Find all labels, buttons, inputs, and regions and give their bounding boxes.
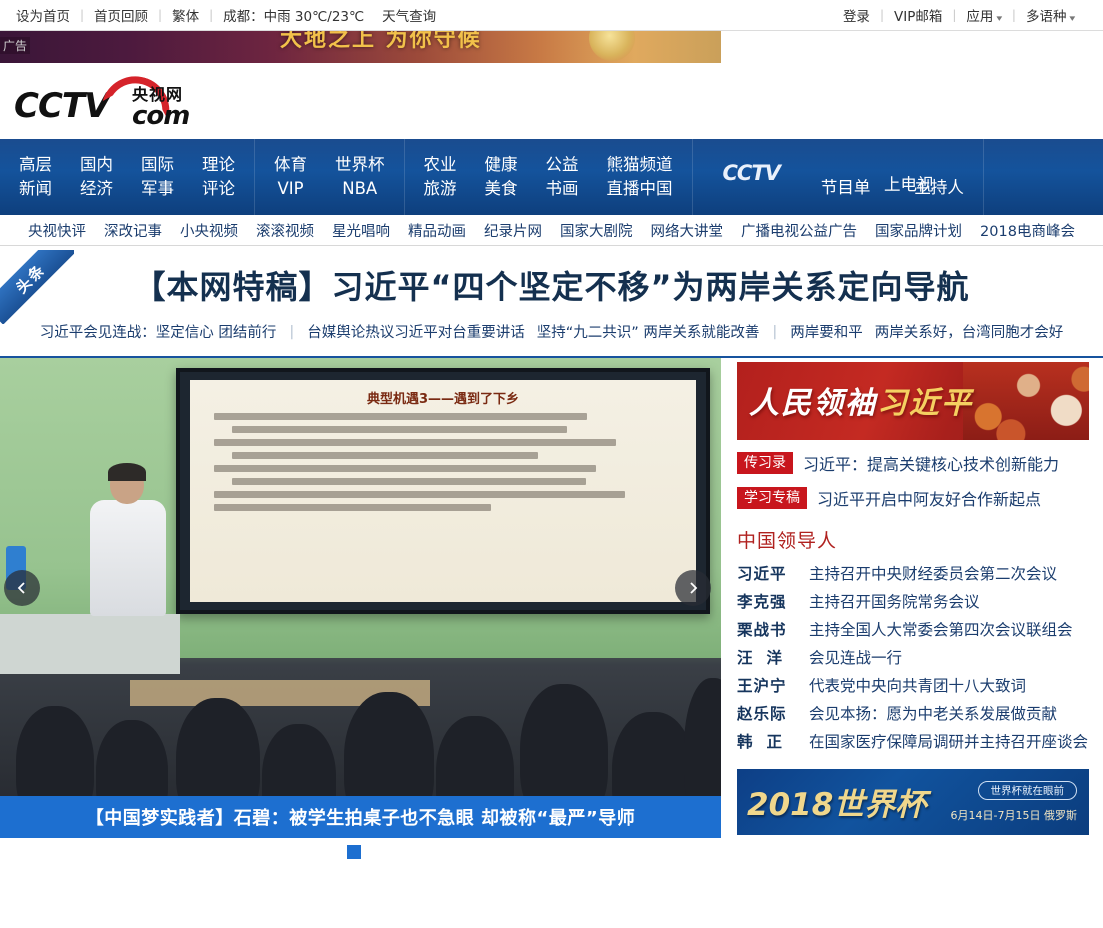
nav-label-bottom: 旅游: [424, 181, 457, 198]
section-heading-leaders: 中国领导人: [737, 526, 1089, 553]
subnav-item-shengaijishi[interactable]: 深改记事: [95, 220, 171, 241]
moon-graphic: [589, 31, 635, 61]
banner-text-gold: 习近平: [877, 386, 973, 421]
carousel-dot-7[interactable]: [391, 845, 405, 859]
traditional-chinese-link[interactable]: 繁体: [162, 5, 209, 25]
subhead-link-4[interactable]: 两岸要和平: [784, 321, 869, 342]
set-homepage-link[interactable]: 设为首页: [6, 5, 80, 25]
main-navigation: 高层 新闻 国内 经济 国际 军事 理论 评论 体育 VIP 世界杯 NBA 农…: [0, 139, 1103, 215]
leader-headline: 在国家医疗保障局调研并主持召开座谈会: [809, 730, 1088, 752]
slide-text-line: [232, 478, 586, 485]
subhead-link-2[interactable]: 台媒舆论热议习近平对台重要讲话: [301, 321, 531, 342]
slide-content: 典型机遇3——遇到了下乡: [190, 380, 696, 602]
subnav-item-gongyiguanggao[interactable]: 广播电视公益广告: [732, 220, 866, 241]
nav-item-worldcup-nba[interactable]: 世界杯 NBA: [321, 157, 399, 197]
nav-label-top: 国际: [141, 157, 174, 174]
nav-label-bottom: 军事: [141, 181, 174, 198]
nav-group-news: 高层 新闻 国内 经济 国际 军事 理论 评论: [0, 139, 255, 215]
apps-menu[interactable]: 应用▾: [956, 5, 1012, 25]
ad-label: 广告: [0, 37, 30, 54]
nav-label-top: 世界杯: [335, 157, 385, 174]
nav-label-bottom: 美食: [485, 181, 518, 198]
nav-label-bottom: 经济: [80, 181, 113, 198]
speaker-body: [90, 500, 166, 616]
nav-group-life: 农业 旅游 健康 美食 公益 书画 熊猫频道 直播中国: [405, 139, 693, 215]
tagged-article-1[interactable]: 传习录 习近平：提高关键核心技术创新能力: [737, 451, 1089, 475]
status-badge: 学习专稿: [737, 487, 807, 509]
carousel-dot-3[interactable]: [303, 845, 317, 859]
leader-name: 王沪宁: [737, 674, 799, 696]
nav-label-bottom: 直播中国: [607, 181, 673, 198]
slide-text-line: [214, 439, 616, 446]
subnav-item-wangluodajiangtang[interactable]: 网络大讲堂: [642, 220, 733, 241]
speaker-hair: [108, 463, 146, 481]
carousel-indicators: [259, 845, 449, 859]
chevron-right-icon: [687, 582, 699, 594]
headline-section: 头条 【本网特稿】习近平“四个坚定不移”为两岸关系定向导航 习近平会见连战：坚定…: [0, 246, 1103, 356]
worldcup-tagline: 世界杯就在眼前: [978, 781, 1078, 800]
nav-label-top: 国内: [80, 157, 113, 174]
nav-item-gaoceng-xinwen[interactable]: 高层 新闻: [5, 157, 66, 197]
slide-title: 典型机遇3——遇到了下乡: [204, 388, 682, 407]
subnav-item-gungunshipin[interactable]: 滚滚视频: [247, 220, 323, 241]
speaker-figure: [86, 466, 170, 616]
tagged-article-2[interactable]: 学习专稿 习近平开启中阿友好合作新起点: [737, 486, 1089, 510]
vip-mail-link[interactable]: VIP邮箱: [884, 5, 952, 25]
nav-label-top: 农业: [424, 157, 457, 174]
nav-label-bottom: 上电视: [884, 177, 934, 194]
chevron-down-icon: ▾: [997, 14, 1003, 24]
carousel-dot-4[interactable]: [325, 845, 339, 859]
carousel-dot-9[interactable]: [435, 845, 449, 859]
leader-headline: 代表党中央向共青团十八大致词: [809, 674, 1026, 696]
presentation-screen: 典型机遇3——遇到了下乡: [176, 368, 710, 614]
nav-group-sports: 体育 VIP 世界杯 NBA: [255, 139, 405, 215]
nav-label-top: 理论: [202, 157, 235, 174]
subnav-item-jilupianwang[interactable]: 纪录片网: [475, 220, 551, 241]
cctv-logo[interactable]: CCTV 央视网 com: [14, 77, 214, 125]
subnav-item-guojiadajuyuan[interactable]: 国家大剧院: [551, 220, 642, 241]
worldcup-banner[interactable]: 2018世界杯 世界杯就在眼前 6月14日-7月15日 俄罗斯: [737, 769, 1089, 835]
nav-item-lilun-pinglun[interactable]: 理论 评论: [188, 157, 249, 197]
list-item[interactable]: 习近平 主持召开中央财经委员会第二次会议: [737, 559, 1089, 587]
language-menu-label: 多语种: [1026, 9, 1067, 25]
nav-label-bottom: 新闻: [19, 181, 52, 198]
leader-name: 李克强: [737, 590, 799, 612]
ribbon-label: 头条: [0, 250, 74, 324]
hero-photo: 典型机遇3——遇到了下乡: [0, 358, 721, 838]
topbar-left-links: 设为首页 | 首页回顾 | 繁体 | 成都：中雨 30℃/23℃ 天气查询: [0, 5, 446, 25]
nav-item-nongye-lvyou[interactable]: 农业 旅游: [410, 157, 471, 197]
nav-item-jiankang-meishi[interactable]: 健康 美食: [471, 157, 532, 197]
list-item[interactable]: 赵乐际 会见本扬：愿为中老关系发展做贡献: [737, 699, 1089, 727]
list-item[interactable]: 李克强 主持召开国务院常务会议: [737, 587, 1089, 615]
banner-text-white: 人民领袖: [749, 386, 877, 421]
logo-cctv-text: CCTV: [14, 89, 109, 123]
slide-text-line: [232, 426, 567, 433]
leader-name: 栗战书: [737, 618, 799, 640]
main-content: 典型机遇3——遇到了下乡: [0, 358, 1103, 838]
separator: |: [282, 324, 301, 340]
slide-text-line: [232, 452, 538, 459]
slide-text-line: [214, 413, 587, 420]
list-item[interactable]: 韩正 在国家医疗保障局调研并主持召开座谈会: [737, 727, 1089, 755]
worldcup-dates: 6月14日-7月15日 俄罗斯: [951, 807, 1077, 823]
leaders-list: 习近平 主持召开中央财经委员会第二次会议 李克强 主持召开国务院常务会议 栗战书…: [737, 559, 1089, 755]
slide-text-line: [214, 465, 596, 472]
nav-item-guonei-jingji[interactable]: 国内 经济: [66, 157, 127, 197]
logo-com-text: com: [132, 103, 189, 129]
nav-label-bottom: NBA: [342, 181, 377, 198]
subhead-link-3[interactable]: 坚持“九二共识” 两岸关系就能改善: [531, 321, 766, 342]
weather-query-link[interactable]: 天气查询: [372, 5, 446, 25]
carousel-dot-6[interactable]: [369, 845, 383, 859]
chevron-down-icon: ▾: [1070, 14, 1076, 24]
nav-item-guoji-junshi[interactable]: 国际 军事: [127, 157, 188, 197]
leader-name: 赵乐际: [737, 702, 799, 724]
subnav-item-guojiapinpaijihua[interactable]: 国家品牌计划: [866, 220, 971, 241]
carousel-dot-8[interactable]: [413, 845, 427, 859]
nav-label-top: 节目单: [821, 180, 871, 197]
header-row: CCTV 央视网 com 网页 ▾ 央视 影音 央视 新闻: [0, 63, 1103, 139]
language-menu[interactable]: 多语种▾: [1016, 5, 1085, 25]
nav-label-top: 高层: [19, 157, 52, 174]
topbar-right-links: 登录 | VIP邮箱 | 应用▾ | 多语种▾: [833, 5, 1103, 25]
nav-label-top: 健康: [485, 157, 518, 174]
nav-item-on-tv[interactable]: 上电视: [884, 177, 934, 194]
leader-name: 韩正: [737, 730, 799, 752]
login-link[interactable]: 登录: [833, 5, 880, 25]
slide-text-line: [214, 491, 625, 498]
subnav-item-kuaiping[interactable]: 央视快评: [19, 220, 95, 241]
leader-name: 习近平: [737, 562, 799, 584]
weather-status: 成都：中雨 30℃/23℃: [213, 5, 372, 25]
banner-advertisement[interactable]: 广告 大地之上 为你守候: [0, 31, 721, 63]
leader-name: 汪洋: [737, 646, 799, 668]
homepage-review-link[interactable]: 首页回顾: [84, 5, 158, 25]
carousel-next-button[interactable]: [675, 570, 711, 606]
list-item[interactable]: 王沪宁 代表党中央向共青团十八大致词: [737, 671, 1089, 699]
nav-item-gongyi-shuhua[interactable]: 公益 书画: [532, 157, 593, 197]
carousel-prev-button[interactable]: [4, 570, 40, 606]
secondary-navigation: 央视快评 深改记事 小央视频 滚滚视频 星光唱响 精品动画 纪录片网 国家大剧院…: [0, 215, 1103, 246]
hero-caption[interactable]: 【中国梦实践者】石碧：被学生拍桌子也不急眼 却被称“最严”导师: [0, 796, 721, 838]
carousel-dot-2[interactable]: [281, 845, 295, 859]
subnav-item-jingpindonghua[interactable]: 精品动画: [399, 220, 475, 241]
tagged-article-title: 习近平：提高关键核心技术创新能力: [803, 451, 1059, 475]
nav-item-tiyu-vip[interactable]: 体育 VIP: [260, 157, 321, 197]
apps-menu-label: 应用: [966, 9, 993, 25]
nav-label-bottom: VIP: [277, 181, 303, 198]
page-title[interactable]: 【本网特稿】习近平“四个坚定不移”为两岸关系定向导航: [0, 260, 1103, 307]
headline-ribbon-badge: 头条: [0, 250, 74, 324]
carousel-dot-5[interactable]: [347, 845, 361, 859]
crowd-photo: [963, 362, 1089, 440]
nav-label-top: 熊猫频道: [607, 157, 673, 174]
subhead-link-5[interactable]: 两岸关系好，台湾同胞才会好: [869, 321, 1070, 342]
chevron-left-icon: [16, 582, 28, 594]
slide-text-line: [214, 504, 491, 511]
subnav-item-xiaoyangshipin[interactable]: 小央视频: [171, 220, 247, 241]
leader-headline: 会见本扬：愿为中老关系发展做贡献: [809, 702, 1057, 724]
nav-label-bottom: 书画: [546, 181, 579, 198]
nav-item-panda-live[interactable]: 熊猫频道 直播中国: [593, 157, 687, 197]
leader-headline: 主持召开中央财经委员会第二次会议: [809, 562, 1057, 584]
subnav-item-dianshangfenghui[interactable]: 2018电商峰会: [971, 220, 1084, 241]
subnav-item-xingguangchangxiang[interactable]: 星光唱响: [323, 220, 399, 241]
leader-headline: 主持全国人大常委会第四次会议联组会: [809, 618, 1073, 640]
list-item[interactable]: 栗战书 主持全国人大常委会第四次会议联组会: [737, 615, 1089, 643]
tagged-article-title: 习近平开启中阿友好合作新起点: [817, 486, 1041, 510]
carousel-dot-1[interactable]: [259, 845, 273, 859]
top-utility-bar: 设为首页 | 首页回顾 | 繁体 | 成都：中雨 30℃/23℃ 天气查询 登录…: [0, 0, 1103, 31]
leader-banner-text: 人民领袖习近平: [749, 378, 973, 422]
leader-headline: 主持召开国务院常务会议: [809, 590, 980, 612]
leader-headline: 会见连战一行: [809, 646, 902, 668]
ad-headline: 大地之上 为你守候: [280, 31, 482, 53]
subhead-link-1[interactable]: 习近平会见连战：坚定信心 团结前行: [34, 321, 283, 342]
separator: |: [765, 324, 784, 340]
list-item[interactable]: 汪洋 会见连战一行: [737, 643, 1089, 671]
nav-label-bottom: 评论: [202, 181, 235, 198]
nav-label-top: 体育: [274, 157, 307, 174]
nav-label-top: 公益: [546, 157, 579, 174]
status-badge: 传习录: [737, 452, 793, 474]
nav-item-schedule[interactable]: 节目单: [807, 180, 885, 197]
nav-cctv-brand[interactable]: CCTV: [693, 139, 802, 215]
worldcup-title: 2018世界杯: [747, 779, 926, 824]
headline-sublinks: 习近平会见连战：坚定信心 团结前行 | 台媒舆论热议习近平对台重要讲话 坚持“九…: [0, 321, 1103, 356]
sidebar: 人民领袖习近平 传习录 习近平：提高关键核心技术创新能力 学习专稿 习近平开启中…: [721, 358, 1103, 838]
hero-carousel[interactable]: 典型机遇3——遇到了下乡: [0, 358, 721, 838]
leader-banner[interactable]: 人民领袖习近平: [737, 362, 1089, 440]
